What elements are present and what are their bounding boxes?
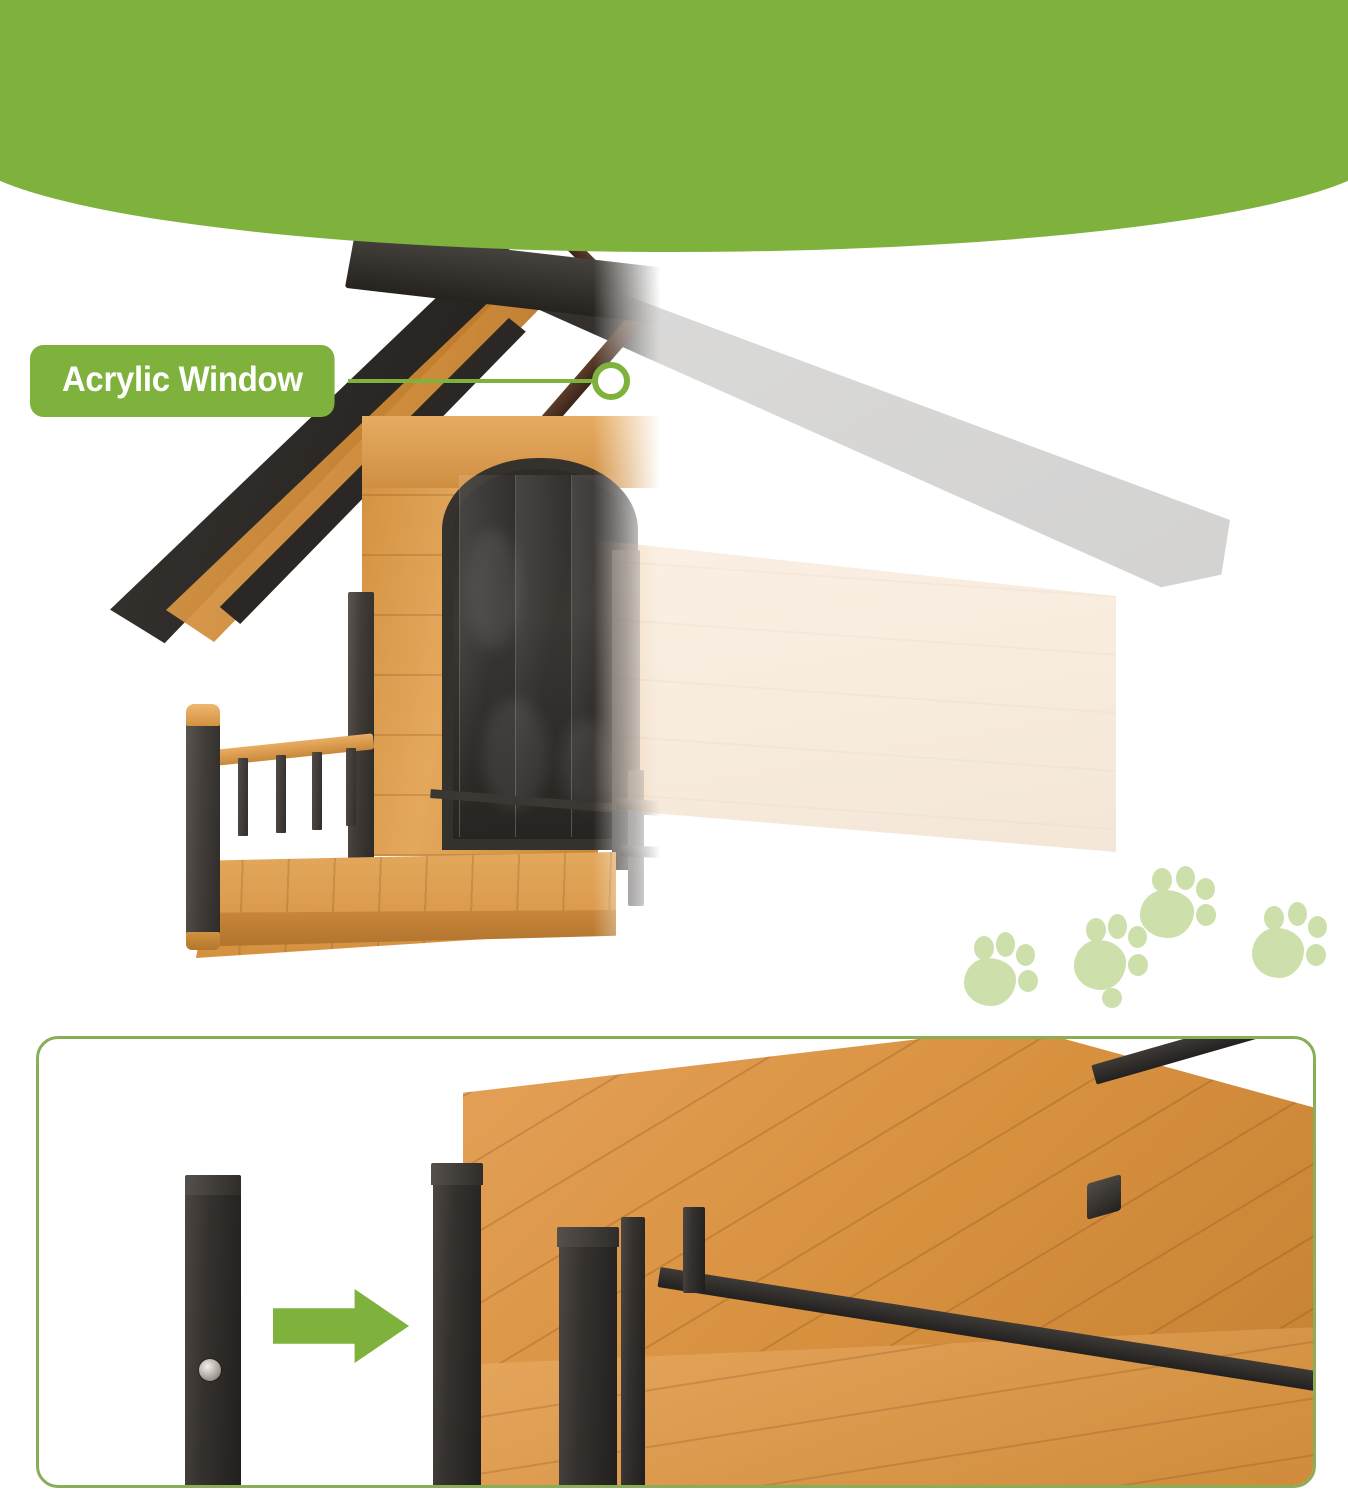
detached-post-open-top <box>185 1175 241 1195</box>
assembly-arrow-icon <box>273 1289 409 1363</box>
callout-label: Acrylic Window <box>30 345 335 417</box>
installed-post-open-top <box>431 1163 483 1185</box>
acrylic-window-callout[interactable]: Acrylic Window <box>30 345 630 417</box>
detached-metal-post <box>185 1181 241 1488</box>
post-screw <box>199 1359 221 1381</box>
callout-leader-line <box>348 379 598 383</box>
corner-metal-post <box>559 1235 617 1488</box>
corner-post-open-top <box>557 1227 619 1247</box>
detail-panel <box>36 1036 1316 1488</box>
hero-product-image <box>0 210 1348 1030</box>
upper-metal-stub <box>683 1207 705 1293</box>
installed-metal-post <box>433 1171 481 1488</box>
callout-marker-dot <box>592 362 630 400</box>
corner-post-flange <box>621 1217 645 1488</box>
paw-print-trail <box>0 210 1348 1030</box>
header-banner <box>0 0 1348 252</box>
dog-house-scene <box>0 210 1348 1030</box>
detail-panel-image <box>39 1039 1313 1485</box>
infographic-page: All-Metal Frame Impact-Resistant, Deform… <box>0 0 1348 1500</box>
